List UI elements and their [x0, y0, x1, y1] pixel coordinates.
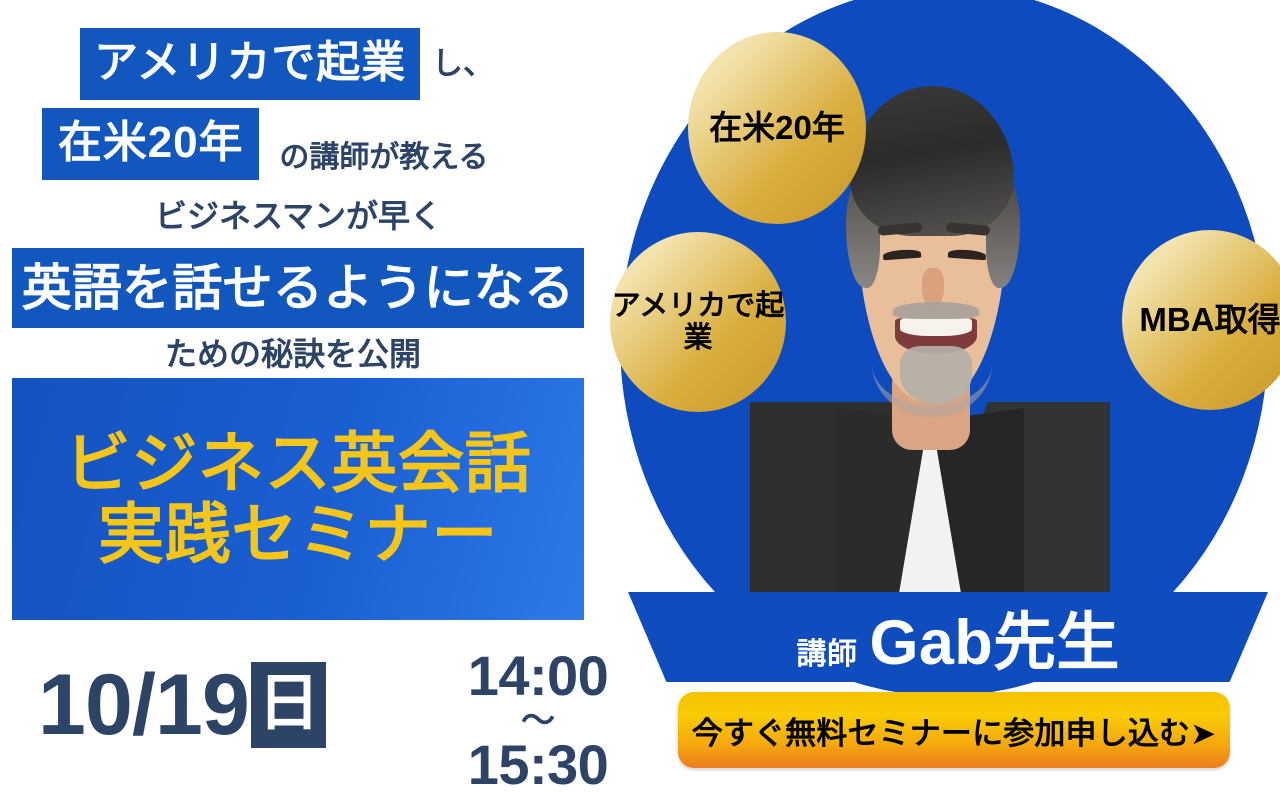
teeth-shape [900, 318, 972, 336]
headline-line-3: ビジネスマンが早く [155, 200, 442, 232]
headline-line-5: ための秘訣を公開 [165, 338, 421, 370]
headline-line-5-text: ための秘訣を公開 [165, 338, 421, 370]
headline-panel: アメリカで起業 し、 在米20年 の講師が教える ビジネスマンが早く 英語を話せ… [0, 0, 640, 800]
headline-line-3-text: ビジネスマンが早く [155, 200, 442, 232]
seminar-time-end: 15:30 [448, 737, 628, 793]
badge-mba-label: MBA取得 [1139, 302, 1280, 339]
seminar-time-start: 14:00 [448, 648, 628, 704]
instructor-name-group: 講師 Gab先生 [796, 592, 1119, 683]
headline-line-1: アメリカで起業 し、 [80, 28, 494, 100]
instructor-role-label: 講師 [796, 629, 857, 673]
headline-emphasis-band-text: 英語を話せるようになる [22, 263, 575, 313]
instructor-panel: 在米20年 アメリカで起業 MBA取得 講師 Gab先生 今すぐ無料セミナーに参… [600, 0, 1280, 800]
moustache-shape [893, 302, 979, 319]
hair-top-shape [850, 86, 1014, 236]
seminar-title-row-1: ビジネス英会話 [65, 428, 532, 499]
instructor-name-ribbon: 講師 Gab先生 [628, 592, 1268, 682]
seminar-time-separator: 〜 [448, 706, 628, 737]
seminar-title-row-2: 実践セミナー [98, 499, 498, 570]
seminar-time: 14:00 〜 15:30 [448, 648, 628, 793]
seminar-title-panel: ビジネス英会話 実践セミナー [12, 378, 584, 620]
seminar-date-value: 10/19 [38, 662, 249, 748]
badge-zaibei-label: 在米20年 [709, 110, 845, 147]
seminar-date: 10/19 日 [38, 662, 326, 748]
headline-line-1-tail: し、 [432, 48, 494, 81]
seminar-promo-banner: 在米20年 アメリカで起業 MBA取得 講師 Gab先生 今すぐ無料セミナーに参… [0, 0, 1280, 800]
seminar-weekday-badge: 日 [251, 662, 326, 748]
apply-now-button[interactable]: 今すぐ無料セミナーに参加申し込む➤ [678, 692, 1230, 768]
headline-line-1-highlight: アメリカで起業 [80, 28, 420, 100]
headline-line-2-tail: の講師が教える [279, 115, 488, 173]
headline-line-2: 在米20年 の講師が教える [42, 108, 488, 180]
goatee-shape [900, 346, 972, 404]
schedule-row: 10/19 日 14:00 〜 15:30 [0, 640, 640, 800]
headline-line-2-highlight: 在米20年 [42, 108, 259, 180]
headline-emphasis-band: 英語を話せるようになる [12, 248, 584, 328]
instructor-name-label: Gab先生 [870, 592, 1120, 683]
badge-zaibei: 在米20年 [688, 32, 866, 224]
